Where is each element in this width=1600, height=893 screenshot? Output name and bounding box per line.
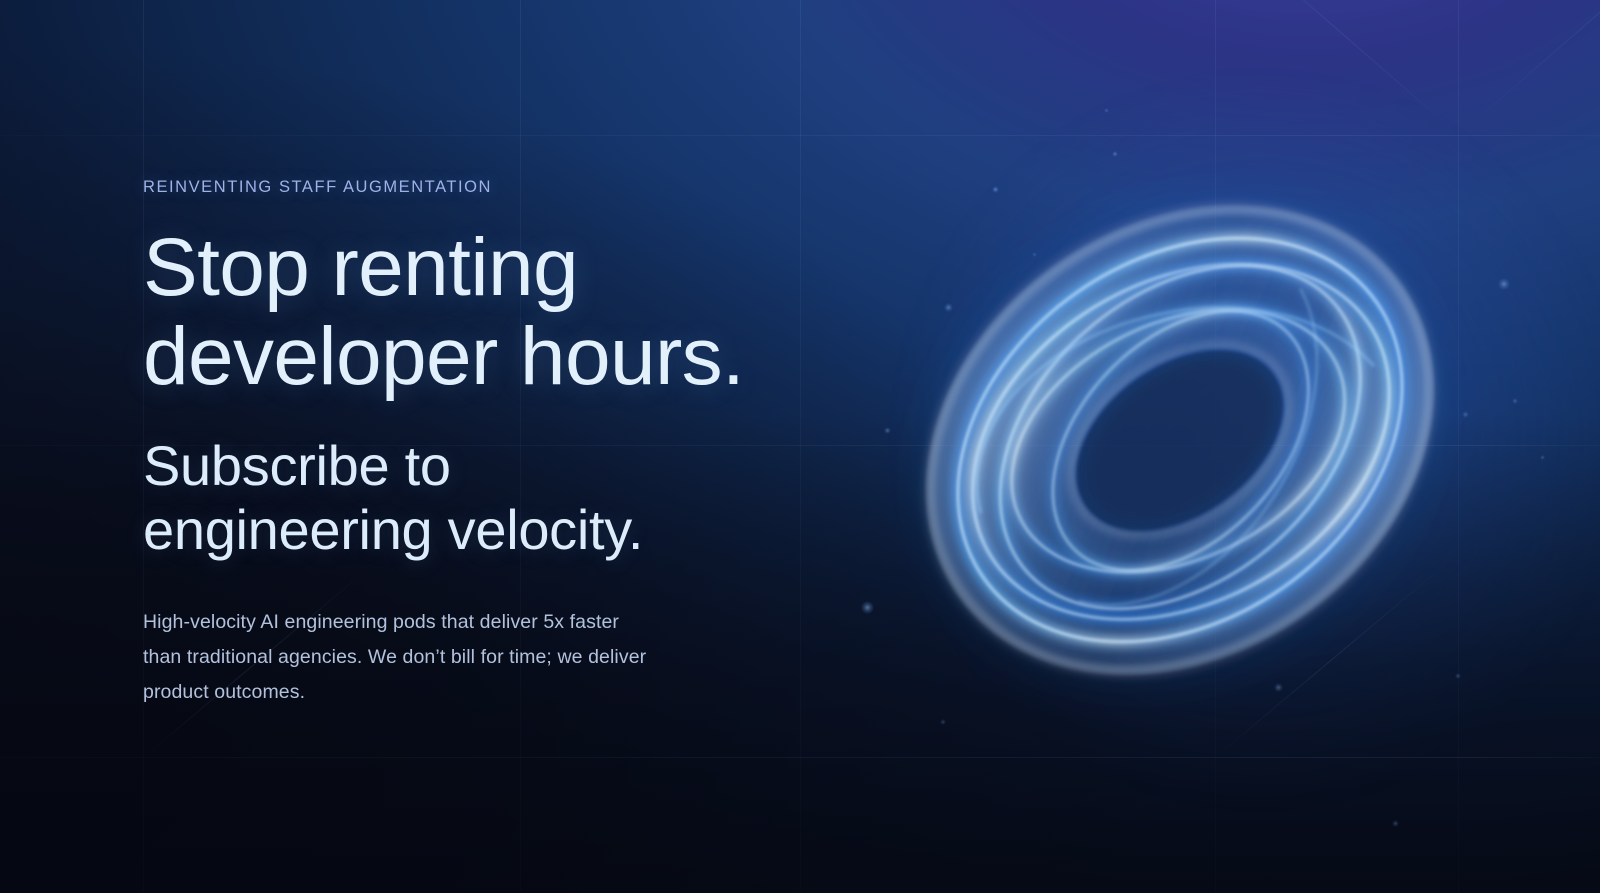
hero-copy: REINVENTING STAFF AUGMENTATION Stop rent… xyxy=(143,178,903,710)
description-line-2: than traditional agencies. We don’t bill… xyxy=(143,640,783,675)
subtitle-line-2: engineering velocity. xyxy=(143,498,903,562)
subtitle-line-1: Subscribe to xyxy=(143,434,903,498)
hero-eyebrow: REINVENTING STAFF AUGMENTATION xyxy=(143,178,903,197)
headline-line-1: Stop renting xyxy=(143,223,903,312)
headline-line-2: developer hours. xyxy=(143,312,903,401)
glowing-energy-torus xyxy=(880,140,1480,740)
hero-subtitle: Subscribe to engineering velocity. xyxy=(143,434,903,562)
description-line-3: product outcomes. xyxy=(143,675,783,710)
description-line-1: High-velocity AI engineering pods that d… xyxy=(143,605,783,640)
hero-description: High-velocity AI engineering pods that d… xyxy=(143,605,783,710)
page-title: Stop renting developer hours. xyxy=(143,223,903,402)
hero-banner: REINVENTING STAFF AUGMENTATION Stop rent… xyxy=(0,0,1600,893)
